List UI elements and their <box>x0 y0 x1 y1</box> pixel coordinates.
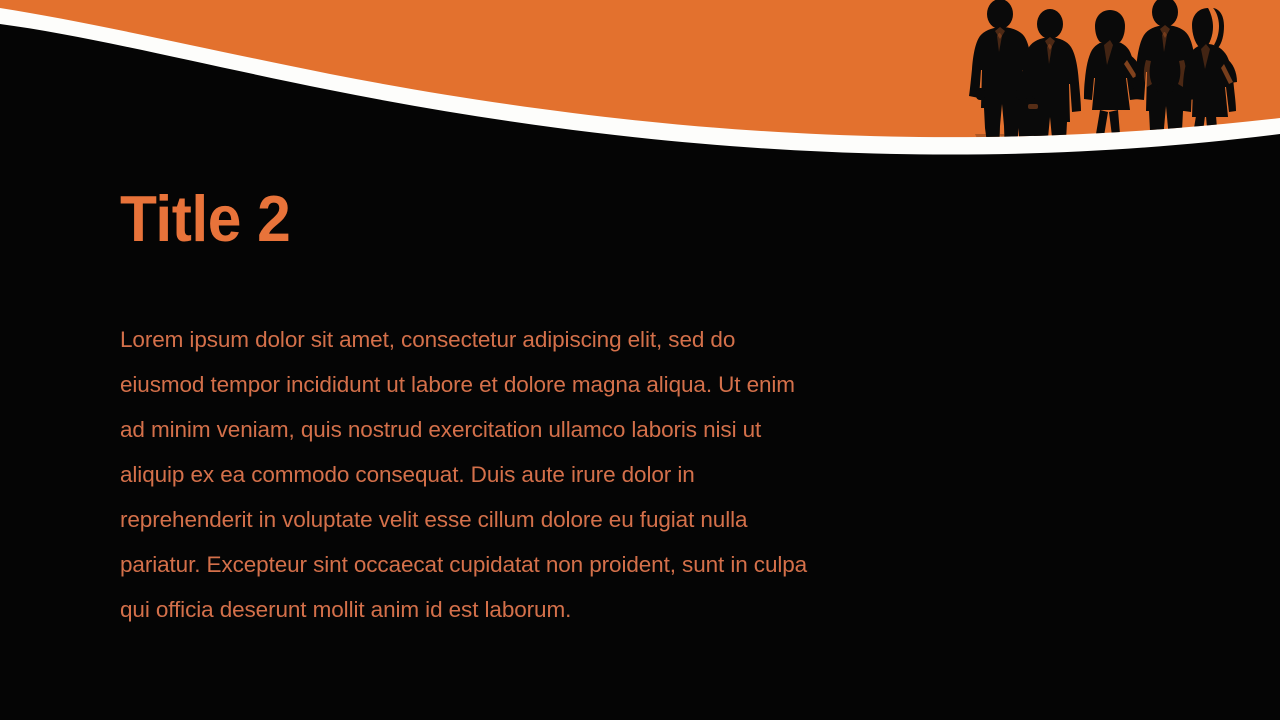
presentation-slide: Title 2 Lorem ipsum dolor sit amet, cons… <box>0 0 1280 720</box>
slide-body-text: Lorem ipsum dolor sit amet, consectetur … <box>120 251 820 632</box>
slide-header-graphic <box>0 0 1280 180</box>
slide-content-area: Title 2 Lorem ipsum dolor sit amet, cons… <box>120 186 880 632</box>
page-title: Title 2 <box>120 186 827 251</box>
